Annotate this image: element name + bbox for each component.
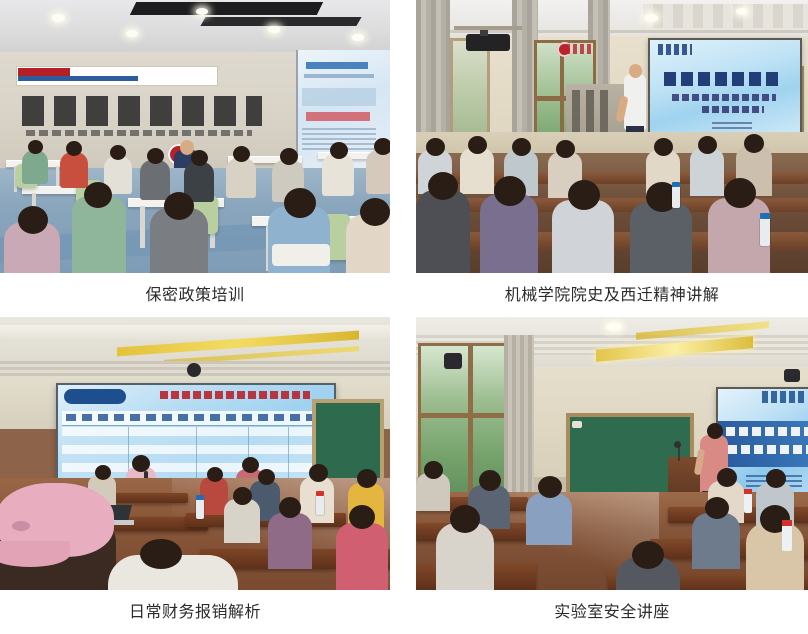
ceiling-light bbox=[268, 26, 280, 33]
photo-caption-1: 保密政策培训 bbox=[145, 273, 244, 317]
presenter-head bbox=[132, 455, 150, 472]
gallery-cell-2: 机械学院院史及西迁精神讲解 bbox=[404, 0, 808, 317]
photo-secrecy-policy-training[interactable] bbox=[0, 0, 390, 273]
attendee bbox=[526, 493, 572, 545]
attendee-front bbox=[416, 190, 470, 273]
water-bottle-cap bbox=[782, 520, 792, 526]
cabinet-panel bbox=[586, 90, 594, 136]
attendee-head bbox=[233, 487, 252, 505]
water-bottle-cap bbox=[744, 489, 752, 494]
academy-name-english bbox=[26, 130, 252, 136]
photo-caption-3: 日常财务报销解析 bbox=[129, 590, 261, 634]
cabinet-panel bbox=[600, 90, 608, 136]
projector bbox=[466, 34, 510, 51]
attendee-head bbox=[468, 136, 487, 154]
attendee bbox=[226, 158, 256, 198]
attendee-front bbox=[552, 200, 614, 273]
attendee-head bbox=[450, 505, 480, 533]
projector-shelf bbox=[454, 26, 522, 30]
ceiling-edge bbox=[416, 30, 808, 33]
slide-subtitle-line-1 bbox=[672, 94, 776, 101]
ceiling-panel bbox=[643, 4, 808, 28]
attendee bbox=[692, 513, 740, 569]
microphone-icon bbox=[674, 441, 681, 448]
water-bottle-cap bbox=[760, 213, 770, 219]
gallery-cell-1: 保密政策培训 bbox=[0, 0, 404, 317]
attendee-head bbox=[330, 142, 348, 159]
slide-title bbox=[160, 391, 310, 399]
wall-speaker bbox=[444, 353, 462, 369]
ceiling-beam bbox=[129, 2, 323, 15]
attendee-head bbox=[632, 541, 664, 569]
attendee-head bbox=[654, 138, 673, 156]
water-bottle bbox=[782, 525, 792, 551]
slide-title bbox=[664, 72, 782, 86]
attendee bbox=[366, 150, 390, 194]
chalk-mark bbox=[572, 421, 582, 428]
attendee-head bbox=[512, 138, 531, 156]
water-bottle bbox=[316, 495, 324, 515]
screen-body-block bbox=[302, 88, 376, 106]
attendee-head bbox=[191, 150, 208, 166]
ceiling-light bbox=[126, 30, 138, 37]
attendee-head bbox=[724, 178, 756, 208]
attendee-head bbox=[705, 497, 729, 519]
presenter-head bbox=[242, 457, 259, 473]
attendee-head bbox=[428, 172, 458, 200]
photo-caption-4: 实验室安全讲座 bbox=[554, 590, 670, 634]
slide-university-logo-icon bbox=[658, 44, 692, 55]
cabinet-panel bbox=[572, 90, 580, 136]
attendee bbox=[268, 513, 312, 569]
curtain bbox=[504, 335, 534, 507]
attendee-head bbox=[717, 468, 737, 487]
attendee bbox=[690, 148, 724, 196]
ceiling-light bbox=[606, 323, 622, 331]
attendee bbox=[224, 499, 260, 543]
window-mullion bbox=[468, 343, 473, 499]
attendee-head bbox=[360, 198, 390, 226]
slide-university-logo-icon bbox=[762, 391, 804, 403]
slide-section-badge bbox=[64, 389, 126, 404]
gallery-cell-4: 实验室安全讲座 bbox=[404, 317, 808, 634]
presenter-head bbox=[707, 423, 723, 439]
attendee-head bbox=[374, 138, 390, 155]
attendee-head bbox=[280, 148, 298, 165]
attendee-head bbox=[279, 497, 301, 518]
wall-speaker bbox=[784, 369, 800, 382]
attendee-head bbox=[349, 505, 375, 529]
water-bottle bbox=[760, 218, 770, 246]
ceiling-light bbox=[52, 14, 65, 22]
attendee-head bbox=[28, 140, 43, 154]
attendee-head bbox=[357, 469, 377, 488]
screen-highlight-line bbox=[306, 112, 370, 121]
water-bottle bbox=[196, 499, 204, 519]
slide-title-line-1 bbox=[726, 427, 808, 436]
attendee bbox=[460, 148, 494, 194]
desk-leg bbox=[140, 206, 145, 248]
ceiling-light bbox=[352, 34, 364, 41]
gallery-cell-3: 日常财务报销解析 bbox=[0, 317, 404, 634]
attendee-head bbox=[164, 192, 194, 220]
photo-finance-reimbursement[interactable] bbox=[0, 317, 390, 590]
attendee-head bbox=[426, 138, 445, 156]
wall-banner-text bbox=[18, 76, 138, 81]
attendee-head bbox=[84, 182, 112, 208]
attendee-head bbox=[538, 476, 562, 498]
attendee bbox=[22, 150, 48, 184]
ceiling-light bbox=[196, 8, 208, 15]
ceiling-beam-secondary bbox=[200, 17, 361, 26]
attendee-head bbox=[233, 146, 250, 162]
photo-caption-2: 机械学院院史及西迁精神讲解 bbox=[505, 273, 720, 317]
attendee-head bbox=[66, 141, 82, 156]
attendee-head bbox=[568, 180, 600, 210]
attendee bbox=[322, 154, 354, 196]
attendee-head bbox=[284, 188, 316, 218]
water-bottle bbox=[744, 493, 752, 513]
slide-seal-text bbox=[566, 44, 594, 54]
ceiling-light bbox=[644, 14, 658, 22]
slide-subtitle-line-2 bbox=[702, 106, 764, 113]
attendee-head bbox=[207, 467, 223, 482]
attendee-front bbox=[436, 523, 494, 590]
attendee-head bbox=[424, 461, 443, 479]
attendee-head bbox=[744, 134, 764, 153]
attendee-head bbox=[147, 148, 164, 164]
attendee-head bbox=[309, 464, 328, 482]
attendee-head bbox=[698, 136, 717, 154]
water-bottle bbox=[672, 186, 680, 208]
attendee-front bbox=[630, 202, 692, 273]
slide-table-header-text bbox=[66, 414, 316, 421]
attendee-head bbox=[556, 140, 575, 158]
attendee-front-skirt bbox=[272, 244, 330, 266]
attendee-head bbox=[766, 469, 786, 488]
attendee bbox=[336, 523, 388, 590]
slide-footer bbox=[712, 122, 752, 131]
attendee-head bbox=[110, 145, 126, 160]
slide-title-line-2 bbox=[728, 445, 808, 454]
water-bottle-cap bbox=[672, 182, 680, 187]
attendee-head bbox=[18, 206, 48, 234]
foreground-attendee-head bbox=[140, 539, 182, 569]
photo-lab-safety-lecture[interactable] bbox=[416, 317, 808, 590]
attendee-head bbox=[258, 469, 275, 485]
presenter-head bbox=[629, 64, 642, 78]
ceiling-light bbox=[736, 8, 748, 15]
water-bottle-cap bbox=[316, 491, 324, 496]
attendee-front bbox=[746, 523, 804, 590]
photo-gallery: 保密政策培训 bbox=[0, 0, 808, 634]
cap-button-icon bbox=[12, 521, 30, 531]
attendee-head bbox=[95, 465, 111, 480]
academy-name-sign bbox=[22, 96, 262, 126]
attendee bbox=[140, 160, 170, 200]
screen-title-line bbox=[306, 62, 368, 69]
attendee-head bbox=[479, 470, 501, 491]
screen-subtitle-line bbox=[304, 74, 374, 78]
attendee bbox=[60, 152, 88, 188]
water-bottle-cap bbox=[196, 495, 204, 500]
attendee-head bbox=[494, 176, 526, 206]
photo-mechanical-college-history[interactable] bbox=[416, 0, 808, 273]
